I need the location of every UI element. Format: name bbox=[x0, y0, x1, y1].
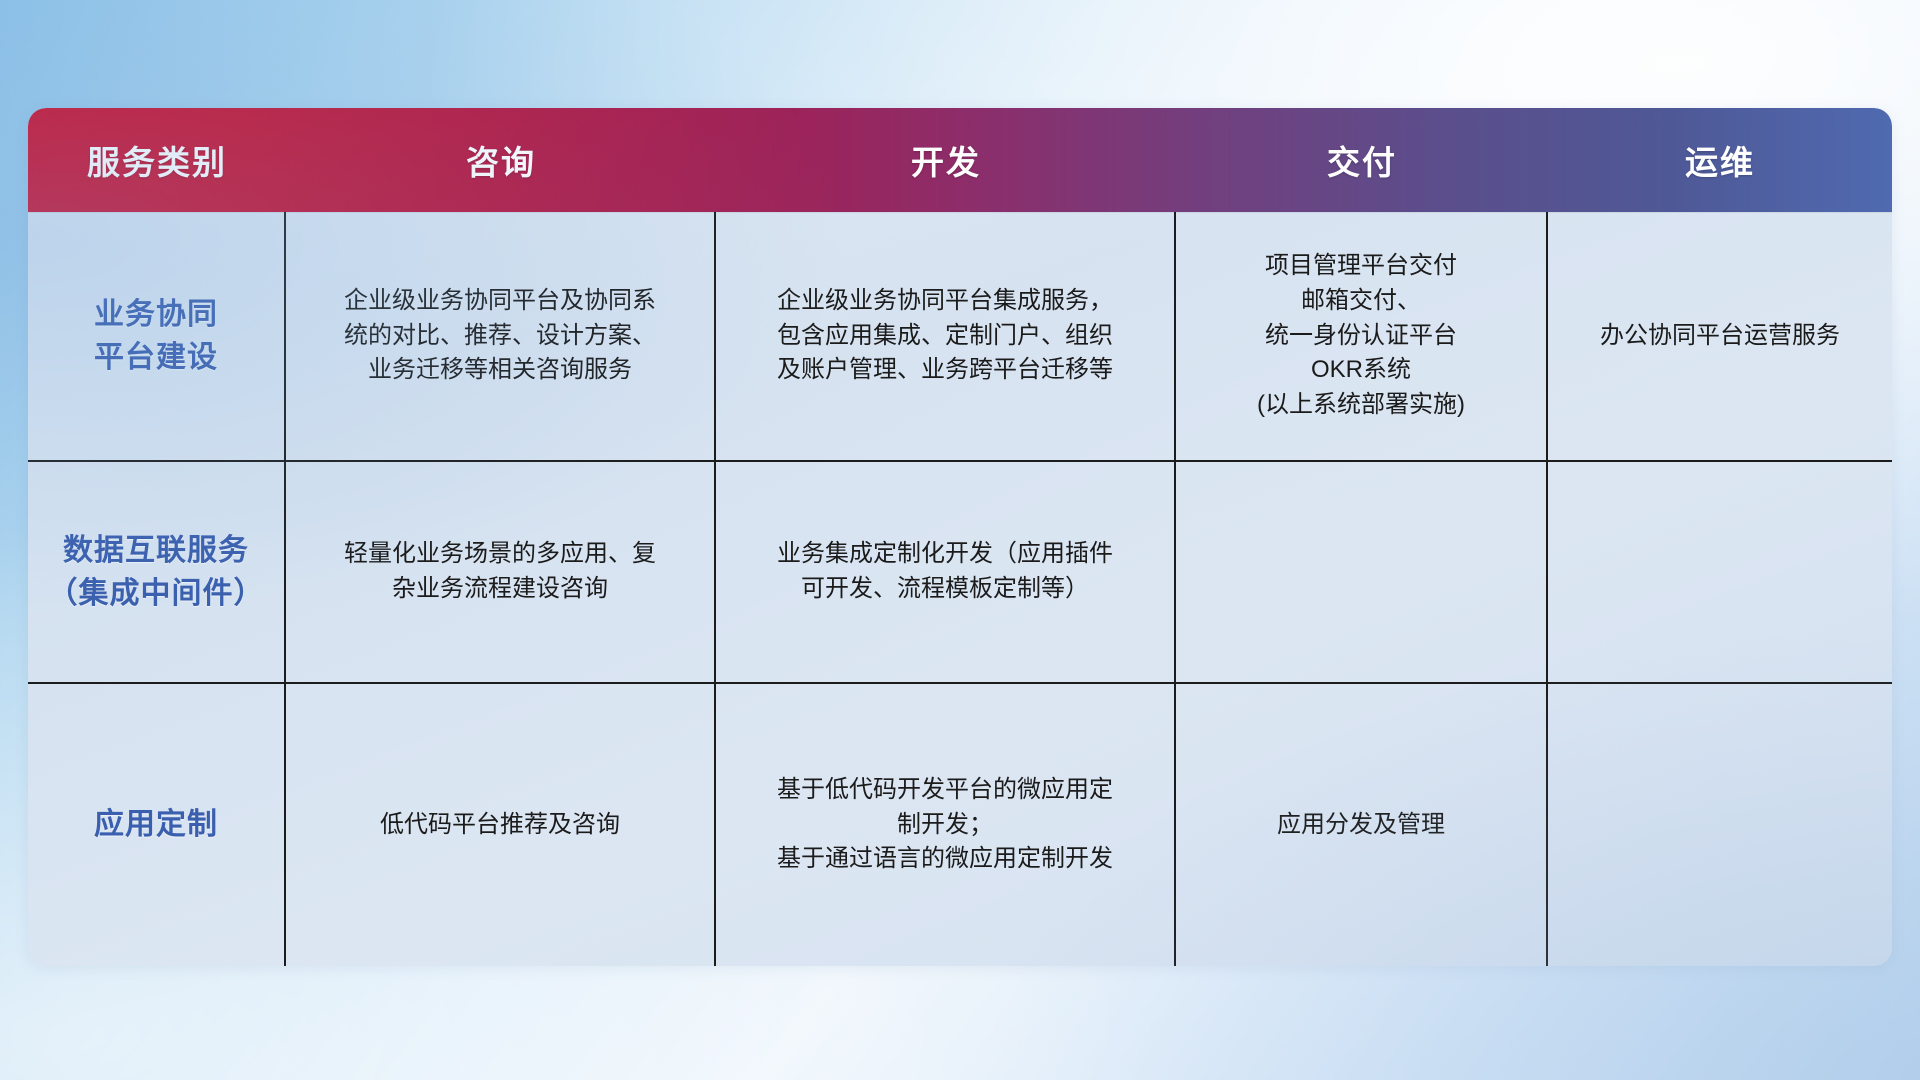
row-category-label: 数据互联服务 （集成中间件） bbox=[28, 462, 286, 682]
table-cell-operations: 办公协同平台运营服务 bbox=[1548, 212, 1892, 460]
table-header-label-service-category: 服务类别 bbox=[87, 136, 227, 184]
table-cell-operations bbox=[1548, 462, 1892, 682]
table-cell-development: 企业级业务协同平台集成服务， 包含应用集成、定制门户、组织 及账户管理、业务跨平… bbox=[716, 212, 1176, 460]
table-cell-consulting: 轻量化业务场景的多应用、复 杂业务流程建设咨询 bbox=[286, 462, 716, 682]
table-header-label-consulting: 咨询 bbox=[466, 136, 536, 184]
table-cell-development: 基于低代码开发平台的微应用定 制开发； 基于通过语言的微应用定制开发 bbox=[716, 684, 1176, 966]
table-cell-delivery: 项目管理平台交付 邮箱交付、 统一身份认证平台 OKR系统 (以上系统部署实施) bbox=[1176, 212, 1548, 460]
table-cell-development: 业务集成定制化开发（应用插件 可开发、流程模板定制等） bbox=[716, 462, 1176, 682]
page-background: 服务类别 咨询 开发 交付 运维 业务协同 平台建设 企业级业务协同平台及协同系… bbox=[0, 0, 1920, 1080]
table-cell-operations bbox=[1548, 684, 1892, 966]
table-cell-consulting: 低代码平台推荐及咨询 bbox=[286, 684, 716, 966]
service-category-table: 服务类别 咨询 开发 交付 运维 业务协同 平台建设 企业级业务协同平台及协同系… bbox=[28, 108, 1892, 966]
table-header-label-operations: 运维 bbox=[1685, 136, 1755, 184]
table-row: 业务协同 平台建设 企业级业务协同平台及协同系 统的对比、推荐、设计方案、 业务… bbox=[28, 212, 1892, 462]
table-header-cell-service-category: 服务类别 bbox=[28, 108, 286, 212]
table-row: 数据互联服务 （集成中间件） 轻量化业务场景的多应用、复 杂业务流程建设咨询 业… bbox=[28, 462, 1892, 684]
table-header-cell-delivery: 交付 bbox=[1176, 108, 1548, 212]
table-header-cell-operations: 运维 bbox=[1548, 108, 1892, 212]
table-header-label-delivery: 交付 bbox=[1327, 136, 1397, 184]
table-cell-consulting: 企业级业务协同平台及协同系 统的对比、推荐、设计方案、 业务迁移等相关咨询服务 bbox=[286, 212, 716, 460]
row-category-label: 应用定制 bbox=[28, 684, 286, 966]
table-cell-delivery: 应用分发及管理 bbox=[1176, 684, 1548, 966]
table-header-row: 服务类别 咨询 开发 交付 运维 bbox=[28, 108, 1892, 212]
row-category-label: 业务协同 平台建设 bbox=[28, 212, 286, 460]
table-header-cell-development: 开发 bbox=[716, 108, 1176, 212]
table-header-label-development: 开发 bbox=[911, 136, 981, 184]
table-row: 应用定制 低代码平台推荐及咨询 基于低代码开发平台的微应用定 制开发； 基于通过… bbox=[28, 684, 1892, 966]
table-header-cell-consulting: 咨询 bbox=[286, 108, 716, 212]
table-cell-delivery bbox=[1176, 462, 1548, 682]
